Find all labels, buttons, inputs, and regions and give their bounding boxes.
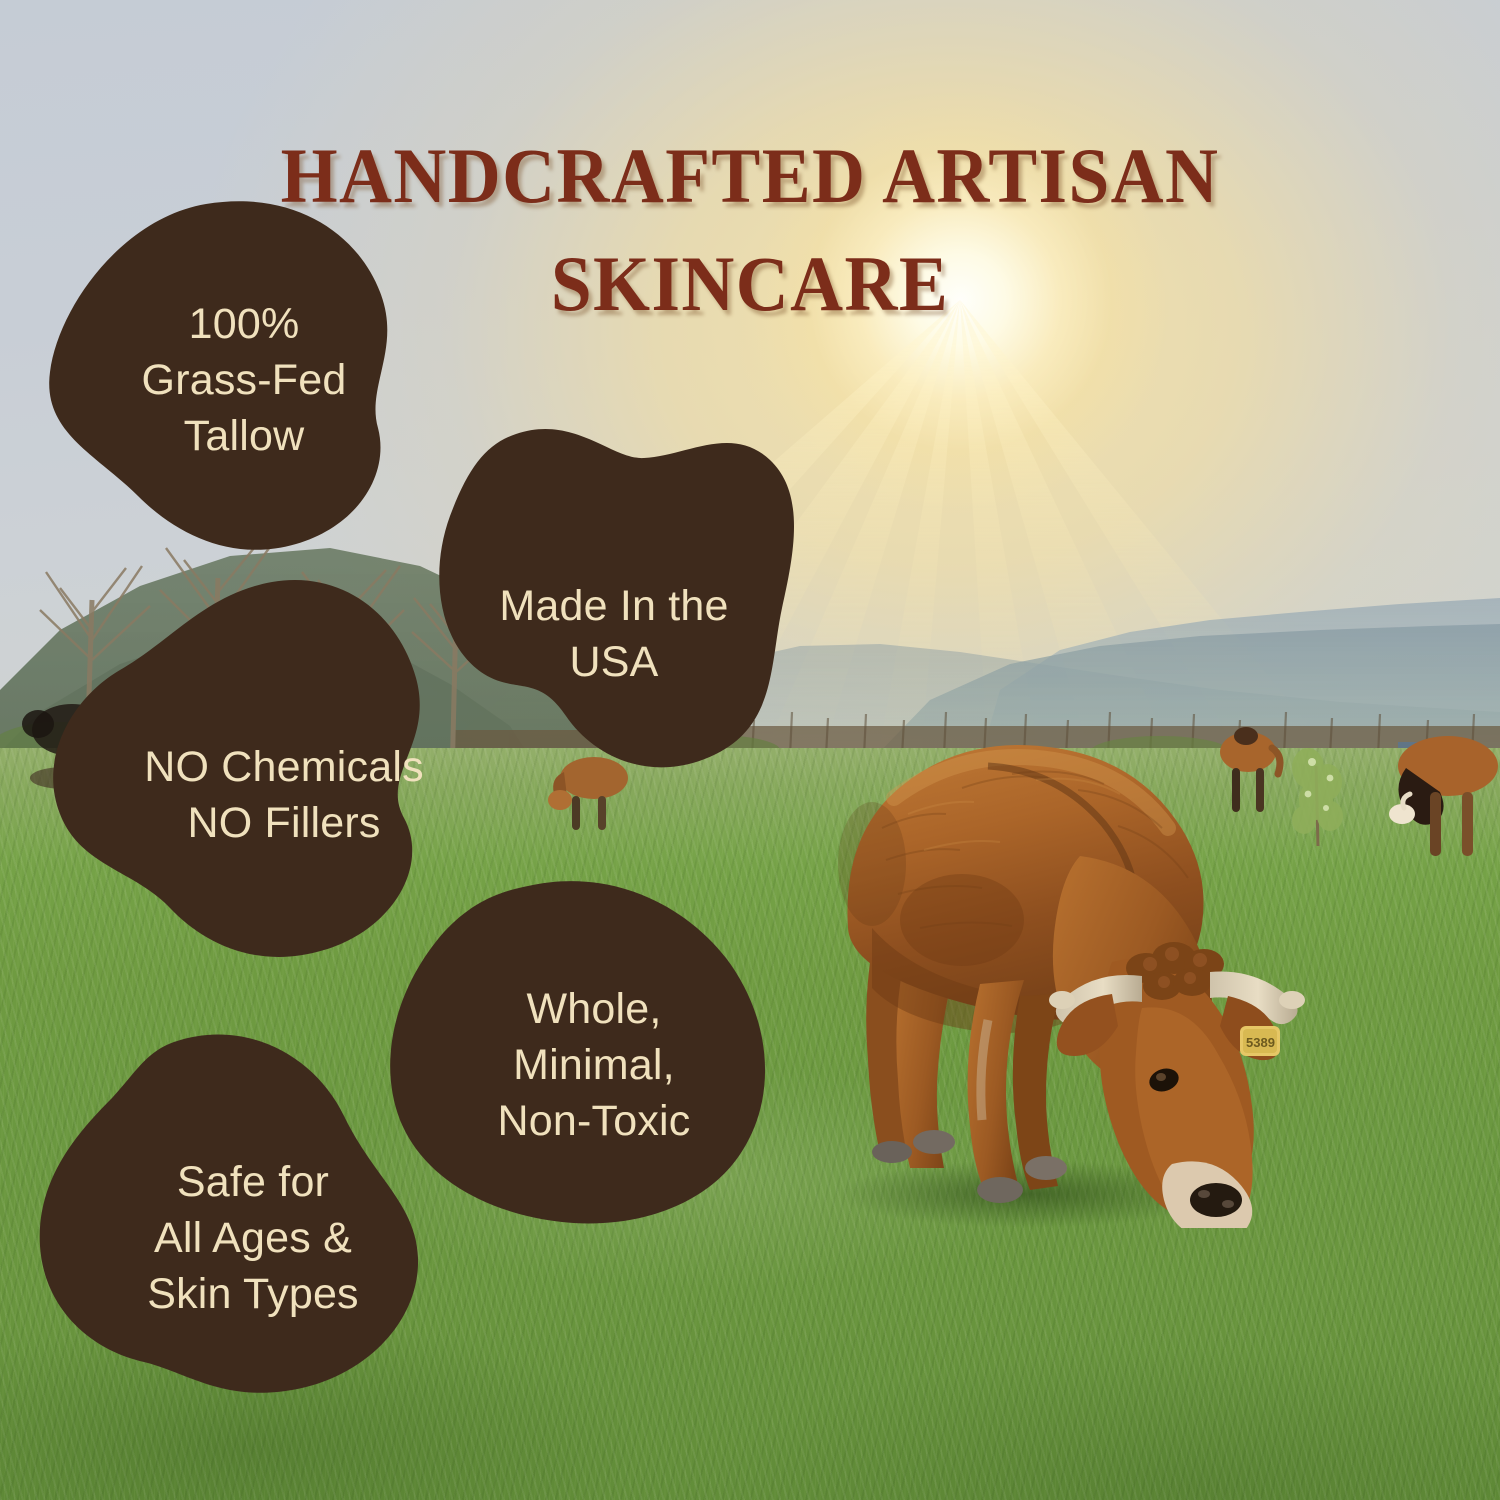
badge-label: NO Chemicals NO Fillers: [144, 740, 424, 852]
badge-label: Safe for All Ages & Skin Types: [147, 1155, 359, 1323]
badge-safe-for-all-ages[interactable]: Safe for All Ages & Skin Types: [26, 1032, 436, 1418]
distant-cow-right: [1388, 722, 1500, 870]
promo-graphic: 5389 HANDCRAFTED ARTISAN SKINCARE 100% G…: [0, 0, 1500, 1500]
badge-label: Made In the USA: [499, 579, 728, 691]
badge-label: Whole, Minimal, Non-Toxic: [498, 982, 691, 1150]
badge-whole-minimal-non-toxic[interactable]: Whole, Minimal, Non-Toxic: [382, 880, 782, 1228]
ear-tag: 5389: [1240, 1026, 1280, 1056]
grazing-cow: 5389: [812, 628, 1332, 1228]
badge-label: 100% Grass-Fed Tallow: [142, 297, 347, 465]
badge-grass-fed-tallow[interactable]: 100% Grass-Fed Tallow: [38, 196, 426, 558]
svg-text:5389: 5389: [1246, 1035, 1275, 1050]
